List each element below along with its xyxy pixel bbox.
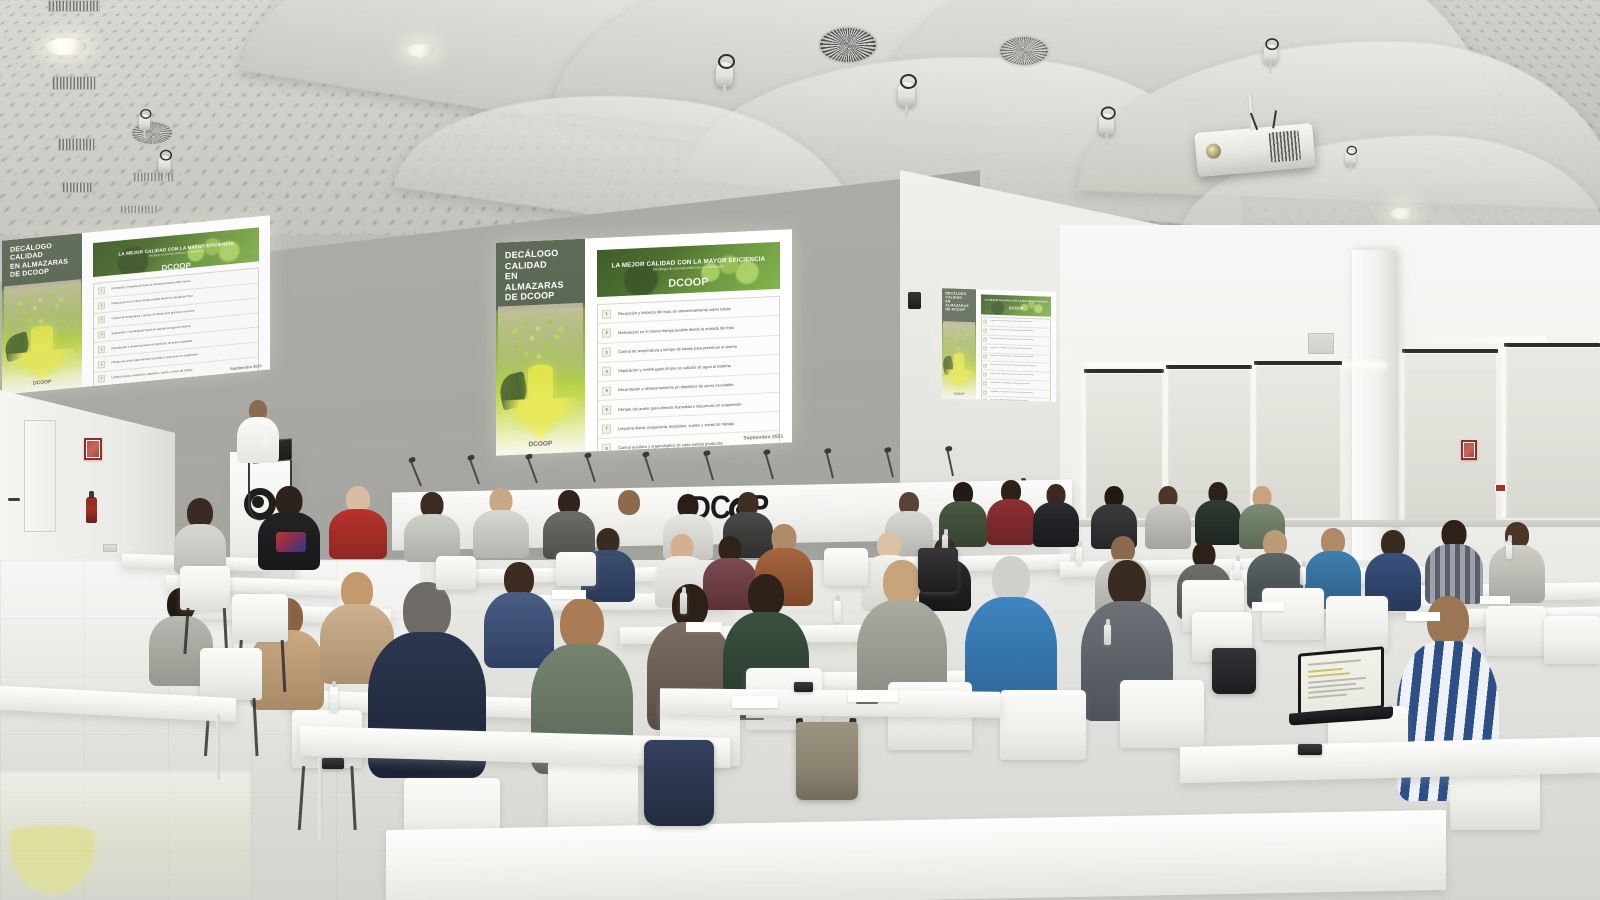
olive-oil-splash-shape	[8, 348, 76, 379]
window-blind[interactable]	[1404, 352, 1496, 520]
paper-sheet	[1406, 612, 1440, 621]
chair[interactable]	[556, 552, 596, 586]
attendee	[1146, 486, 1190, 548]
laptop-screen	[1298, 646, 1384, 716]
person-torso	[1195, 500, 1241, 545]
laptop-text-line	[1308, 677, 1366, 684]
decalogo-number-icon: 4	[983, 346, 987, 350]
pen[interactable]	[740, 718, 764, 720]
wall-speaker-icon	[908, 292, 921, 309]
laptop-text-line	[1308, 694, 1346, 699]
person-torso	[329, 509, 387, 559]
tshirt-graphic	[276, 532, 306, 552]
projector-vent-grill	[1269, 130, 1302, 163]
paper-sheet	[552, 590, 586, 599]
blind-rail[interactable]	[1504, 343, 1600, 347]
attendee	[968, 556, 1054, 711]
paper-sheet	[848, 690, 898, 702]
fire-extinguisher-sign	[1461, 440, 1477, 460]
decalogo-number-icon: 8	[983, 381, 987, 385]
water-bottle[interactable]	[1300, 566, 1306, 585]
water-bottle[interactable]	[834, 600, 841, 622]
slide-cover-panel: DECÁLOGO CALIDAD EN ALMAZARAS DE DCOOP D…	[2, 233, 82, 395]
laptop-text-line	[1308, 659, 1361, 666]
table-row	[660, 688, 1000, 718]
blind-edge-glow	[1082, 372, 1086, 518]
person-head	[1427, 596, 1469, 646]
water-bottle[interactable]	[1104, 624, 1111, 645]
pen[interactable]	[856, 702, 878, 704]
decalogo-number-icon: 4	[602, 367, 611, 376]
person-torso	[1033, 502, 1079, 547]
paper-sheet	[1252, 602, 1284, 611]
slide-banner-logo: DCOOP	[981, 305, 1052, 312]
blind-rail[interactable]	[1402, 349, 1498, 353]
decalogo-number-icon: 2	[602, 328, 611, 337]
track-spotlight-icon	[158, 156, 170, 174]
ceiling-downlight-icon	[45, 38, 87, 55]
attendee	[1196, 482, 1240, 544]
attendee	[175, 498, 225, 570]
decalogo-number-icon: 5	[602, 386, 611, 395]
conference-room-photo: DECÁLOGO CALIDAD EN ALMAZARAS DE DCOOP D…	[0, 0, 1600, 900]
window-blind[interactable]	[1506, 346, 1600, 518]
hvac-vent	[62, 182, 94, 193]
slide-cover-logo: DCOOP	[942, 391, 976, 396]
decalogo-number-icon: 6	[602, 405, 611, 414]
fire-extinguisher-sign	[84, 438, 102, 460]
decalogo-text: Decantación y almacenamiento en depósito…	[990, 356, 1049, 360]
person-head	[560, 598, 604, 650]
attendee	[330, 486, 386, 556]
person-torso	[1425, 544, 1483, 604]
jacket-on-chair	[644, 740, 714, 826]
blind-rail[interactable]	[1254, 361, 1342, 365]
attendee	[988, 480, 1034, 544]
air-diffuser-icon	[998, 35, 1050, 67]
water-bottle[interactable]	[680, 592, 687, 614]
wall-outlet-panel	[103, 544, 117, 552]
decalogo-number-icon: 3	[98, 316, 105, 324]
blind-rail[interactable]	[1084, 369, 1164, 373]
laptop-text-line-highlight	[1308, 667, 1343, 672]
decalogo-text: Molturación en el menor tiempo posible d…	[990, 330, 1049, 334]
water-bottle[interactable]	[1234, 560, 1240, 579]
track-spotlight-icon	[1345, 151, 1356, 167]
track-spotlight-icon	[716, 62, 733, 87]
decalogo-text: Filtrado del aceite para eliminar humeda…	[618, 400, 775, 412]
attendee	[474, 488, 528, 556]
paper-sheet	[732, 696, 778, 708]
hvac-vent	[133, 172, 175, 182]
slide-banner: LA MEJOR CALIDAD CON LA MAYOR EFICIENCIA…	[597, 242, 781, 297]
smartphone[interactable]	[1298, 744, 1322, 755]
chair[interactable]	[1326, 596, 1388, 650]
decalogo-number-icon: 1	[983, 320, 987, 324]
decalogo-number-icon: 5	[983, 355, 987, 359]
chair[interactable]	[232, 594, 288, 642]
olive-oil-splash-shape	[945, 370, 974, 389]
attendee	[1426, 520, 1482, 602]
slide-decalogo-list: 1Recepción y limpieza del fruto sin alma…	[597, 296, 781, 456]
decalogo-text: Control de temperatura y tiempo de batid…	[990, 339, 1049, 343]
decalogo-number-icon: 5	[98, 346, 105, 354]
decalogo-text: Control de temperatura y tiempo de batid…	[618, 342, 775, 354]
fire-alarm-pull[interactable]	[1495, 484, 1506, 492]
chair[interactable]	[1000, 690, 1086, 760]
slide-cover-panel: DECÁLOGO CALIDAD EN ALMAZARAS DE DCOOP D…	[942, 288, 976, 399]
main-screen: DECÁLOGO CALIDAD EN ALMAZARAS DE DCOOP D…	[496, 229, 792, 455]
wall-control-panel	[1308, 333, 1334, 354]
person-torso	[1489, 545, 1545, 603]
room-door[interactable]	[24, 420, 56, 532]
decalogo-number-icon: 9	[983, 390, 987, 394]
blind-edge-glow	[1502, 346, 1507, 518]
blind-edge-glow	[1400, 352, 1405, 520]
slide-banner-heading: LA MEJOR CALIDAD CON LA MAYOR EFICIENCIA	[981, 294, 1052, 304]
smartphone[interactable]	[322, 758, 344, 769]
decalogo-text: Separación y centrifugado limpio sin adi…	[618, 361, 775, 373]
paper-sheet	[1480, 596, 1510, 604]
chair[interactable]	[824, 548, 868, 586]
decalogo-number-icon: 3	[983, 337, 987, 341]
water-bottle[interactable]	[1076, 546, 1082, 565]
chair[interactable]	[548, 760, 638, 832]
speaker-presenter	[236, 400, 280, 460]
track-spotlight-icon	[139, 114, 150, 131]
cove-light	[1396, 336, 1546, 343]
table-leg	[216, 714, 220, 780]
chair[interactable]	[180, 566, 230, 610]
slide-banner-logo: DCOOP	[597, 273, 781, 293]
slide-content-panel: LA MEJOR CALIDAD CON LA MAYOR EFICIENCIA…	[976, 289, 1056, 402]
backpack	[796, 722, 858, 800]
decalogo-number-icon: 7	[602, 424, 611, 433]
attendee	[1490, 522, 1544, 602]
backpack	[1212, 648, 1256, 694]
decalogo-number-icon: 4	[98, 331, 105, 339]
olive-oil-splash-shape	[503, 397, 578, 434]
person-head	[883, 560, 921, 605]
chair[interactable]	[1486, 606, 1546, 656]
person-head	[672, 584, 708, 627]
track-spotlight-icon	[1264, 45, 1278, 65]
person-head	[1108, 560, 1146, 606]
decalogo-text: Limpieza diaria: maquinaria, depósitos, …	[990, 374, 1049, 378]
person-torso	[237, 417, 279, 463]
decalogo-number-icon: 1	[98, 287, 105, 295]
backpack	[918, 548, 958, 592]
track-spotlight-icon	[898, 82, 915, 107]
left-wall-screen: DECÁLOGO CALIDAD EN ALMAZARAS DE DCOOP D…	[2, 215, 270, 394]
slide-cover-panel: DECÁLOGO CALIDAD EN ALMAZARAS DE DCOOP D…	[496, 239, 585, 456]
smartphone[interactable]	[794, 682, 813, 692]
slide-content-panel: LA MEJOR CALIDAD CON LA MAYOR EFICIENCIA…	[82, 215, 270, 387]
chair[interactable]	[436, 556, 476, 590]
decalogo-number-icon: 2	[98, 301, 105, 309]
slide-left-copy: DECÁLOGO CALIDAD EN ALMAZARAS DE DCOOP D…	[2, 215, 270, 394]
ceiling-downlight-icon	[406, 44, 434, 57]
door-handle[interactable]	[8, 498, 20, 501]
decalogo-number-icon: 6	[983, 364, 987, 368]
hvac-vent	[48, 0, 100, 12]
slide-right-copy: DECÁLOGO CALIDAD EN ALMAZARAS DE DCOOP D…	[942, 288, 1056, 402]
slide-cover-title: DECÁLOGO CALIDAD EN ALMAZARAS DE DCOOP	[2, 233, 82, 281]
slide-cover-title: DECÁLOGO CALIDAD EN ALMAZARAS DE DCOOP	[496, 239, 585, 304]
chair[interactable]	[1544, 616, 1600, 664]
attendee	[405, 492, 459, 560]
slide-floor-reflection	[0, 772, 250, 900]
blind-rail[interactable]	[1166, 365, 1252, 369]
paper-sheet	[686, 622, 722, 632]
chair[interactable]	[1120, 680, 1204, 748]
decalogo-number-icon: 3	[602, 348, 611, 357]
decalogo-text: Molturación en el menor tiempo posible d…	[618, 323, 775, 335]
person-head	[992, 556, 1030, 602]
table-leg	[318, 758, 323, 840]
water-bottle[interactable]	[1506, 540, 1512, 559]
person-torso	[987, 499, 1035, 545]
person-torso	[404, 514, 460, 562]
chair[interactable]	[200, 648, 262, 700]
decalogo-number-icon: 7	[98, 375, 105, 383]
water-bottle[interactable]	[330, 686, 338, 712]
track-spotlight-icon	[1099, 114, 1114, 136]
laptop-text-line-highlight	[1308, 672, 1350, 678]
chair[interactable]	[1262, 588, 1324, 640]
decalogo-text: Recepción y limpieza del fruto sin almac…	[618, 304, 775, 316]
fire-extinguisher	[86, 497, 97, 523]
right-wall-screen: DECÁLOGO CALIDAD EN ALMAZARAS DE DCOOP D…	[942, 288, 1056, 402]
decalogo-number-icon: 7	[983, 372, 987, 376]
person-head	[748, 574, 784, 617]
hvac-vent	[52, 76, 96, 90]
decalogo-number-icon: 2	[983, 329, 987, 333]
decalogo-text: Separación y centrifugado limpio sin adi…	[990, 347, 1049, 351]
hvac-vent	[58, 138, 95, 151]
slide-main: DECÁLOGO CALIDAD EN ALMAZARAS DE DCOOP D…	[496, 229, 792, 455]
slide-decalogo-list: 1Recepción y limpieza del fruto sin alma…	[981, 317, 1052, 402]
slide-content-panel: LA MEJOR CALIDAD CON LA MAYOR EFICIENCIA…	[585, 229, 792, 451]
slide-cover-title: DECÁLOGO CALIDAD EN ALMAZARAS DE DCOOP	[942, 288, 976, 312]
attendee	[260, 486, 318, 566]
slide-cover-logo: DCOOP	[496, 438, 585, 449]
decalogo-text: Control analítico y organoléptico de cad…	[990, 382, 1049, 386]
air-diffuser-icon	[818, 26, 878, 64]
decalogo-number-icon: 6	[98, 361, 105, 369]
person-torso	[473, 510, 529, 558]
slide-banner: LA MEJOR CALIDAD CON LA MAYOR EFICIENCIA…	[981, 294, 1052, 316]
decalogo-text: Trazabilidad y documentación de todo el …	[990, 391, 1049, 395]
decalogo-text: Decantación y almacenamiento en depósito…	[618, 380, 775, 392]
decalogo-text: Filtrado del aceite para eliminar humeda…	[990, 365, 1049, 369]
decalogo-number-icon: 1	[602, 309, 611, 318]
attendee	[1034, 484, 1078, 546]
projector-lens-icon	[1205, 143, 1221, 159]
decalogo-text: Limpieza diaria: maquinaria, depósitos, …	[618, 419, 775, 431]
decalogo-text: Recepción y limpieza del fruto sin almac…	[990, 321, 1049, 325]
ceiling-downlight-icon	[1390, 208, 1414, 219]
hvac-vent	[120, 205, 158, 214]
air-diffuser-icon	[130, 120, 174, 146]
